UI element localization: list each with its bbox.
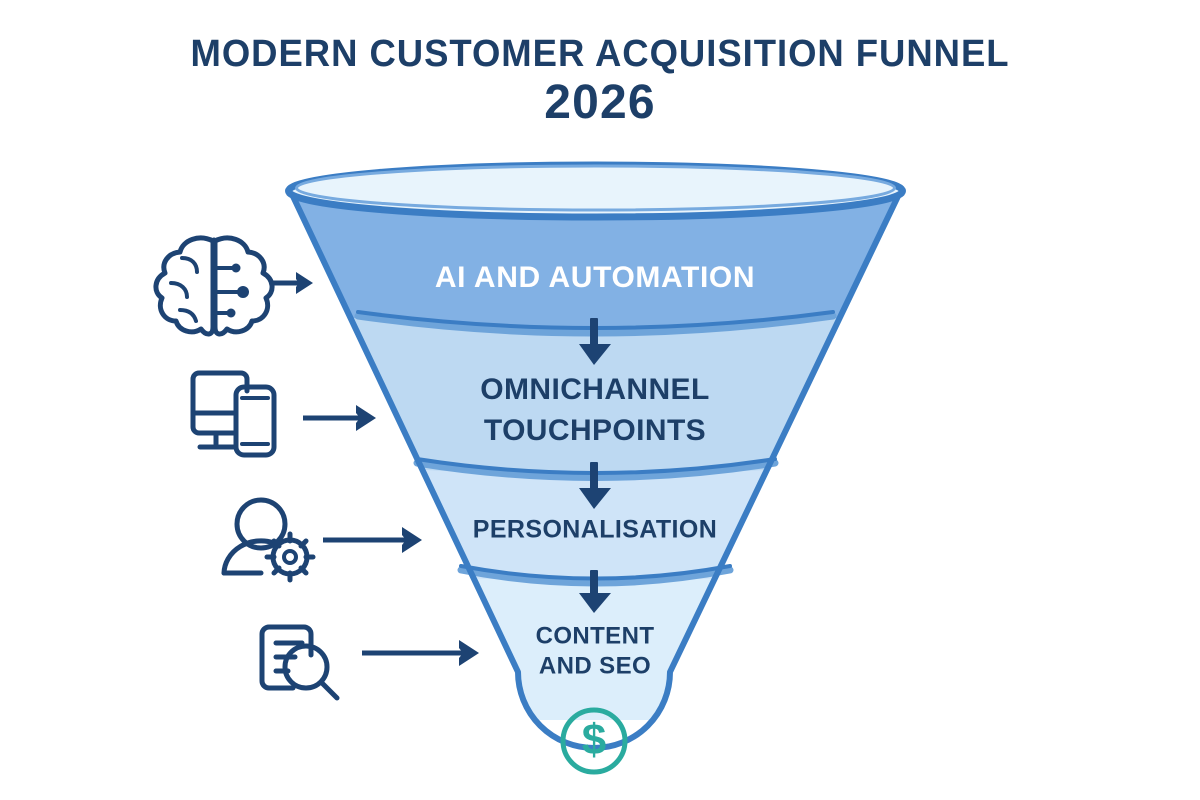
funnel-diagram: AI AND AUTOMATION OMNICHANNEL TOUCHPOINT… — [0, 0, 1200, 800]
arrow-right-icon — [323, 527, 422, 553]
arrow-right-icon — [362, 640, 479, 666]
funnel-label-omnichannel-line2: TOUCHPOINTS — [484, 414, 706, 447]
brain-icon — [156, 238, 272, 334]
document-search-icon — [262, 627, 337, 698]
funnel-label-content-line1: CONTENT — [536, 622, 655, 649]
arrow-right-icon — [303, 405, 376, 431]
infographic-canvas: MODERN CUSTOMER ACQUISITION FUNNEL 2026 — [0, 0, 1200, 800]
arrow-right-icon — [272, 272, 313, 294]
side-icon-devices-omnichannel[interactable] — [193, 373, 376, 455]
dollar-symbol: $ — [582, 716, 606, 765]
funnel-label-content-line2: AND SEO — [539, 652, 651, 679]
side-icon-brain-ai[interactable] — [156, 238, 313, 334]
side-icon-document-search-seo[interactable] — [262, 627, 479, 698]
user-gear-icon — [224, 500, 313, 580]
side-icon-user-gear-personalisation[interactable] — [224, 500, 422, 580]
funnel-label-omnichannel-line1: OMNICHANNEL — [480, 373, 709, 406]
devices-icon — [193, 373, 274, 455]
funnel-label-ai-and-automation: AI AND AUTOMATION — [435, 261, 755, 294]
funnel-label-personalisation: PERSONALISATION — [473, 516, 717, 544]
funnel-rim — [289, 165, 903, 217]
dollar-circle-icon[interactable]: $ — [563, 710, 625, 772]
